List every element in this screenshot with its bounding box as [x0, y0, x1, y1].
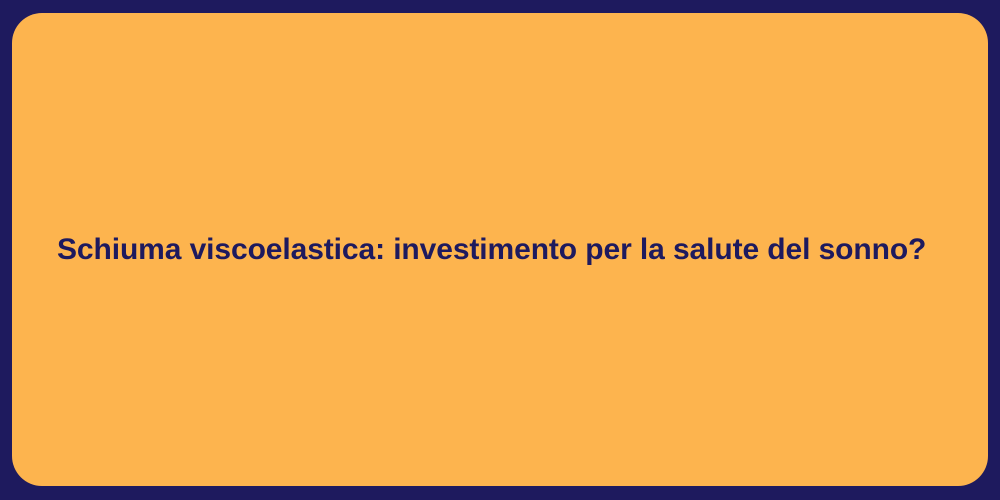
headline-card: Schiuma viscoelastica: investimento per …	[12, 13, 988, 486]
headline-container: Schiuma viscoelastica: investimento per …	[12, 230, 988, 268]
page-frame: Schiuma viscoelastica: investimento per …	[0, 0, 1000, 500]
page-title: Schiuma viscoelastica: investimento per …	[57, 230, 943, 268]
